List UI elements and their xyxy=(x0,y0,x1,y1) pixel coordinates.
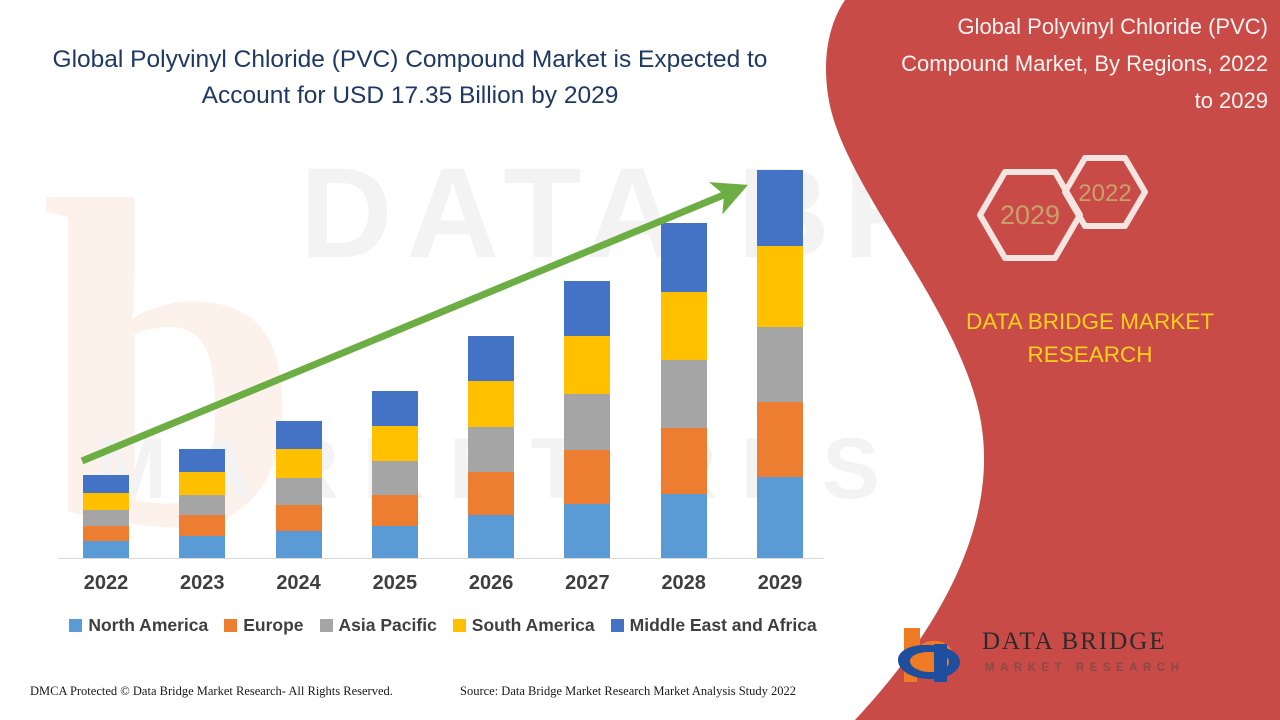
bar-segment xyxy=(468,515,514,558)
brand-line-2: RESEARCH xyxy=(1027,342,1152,367)
bar-segment xyxy=(468,427,514,472)
bar-segment xyxy=(276,421,322,449)
bar-segment xyxy=(661,292,707,361)
legend-swatch-icon xyxy=(224,619,237,632)
bar-column-2023 xyxy=(154,170,250,558)
bar-segment xyxy=(757,402,803,477)
x-axis-line xyxy=(58,558,824,559)
x-axis-label: 2023 xyxy=(154,572,250,595)
x-axis-label: 2022 xyxy=(58,572,154,595)
bar-segment xyxy=(661,223,707,292)
bar-segment xyxy=(372,526,418,558)
bar-segment xyxy=(661,428,707,494)
hexagon-badges: 2029 2022 xyxy=(970,140,1200,290)
stacked-bar xyxy=(83,475,129,558)
page-title: Global Polyvinyl Chloride (PVC) Compound… xyxy=(40,42,780,114)
x-axis-label: 2027 xyxy=(539,572,635,595)
legend-swatch-icon xyxy=(611,619,624,632)
bar-segment xyxy=(276,478,322,505)
logo-mark-icon xyxy=(890,620,978,692)
legend-label: Middle East and Africa xyxy=(630,615,817,636)
bar-segment xyxy=(83,541,129,558)
legend-swatch-icon xyxy=(69,619,82,632)
logo-wordmark: DATA BRIDGE xyxy=(982,628,1167,656)
copyright-notice: DMCA Protected © Data Bridge Market Rese… xyxy=(30,684,393,699)
legend-item-south-america[interactable]: South America xyxy=(453,615,595,636)
bar-segment xyxy=(179,449,225,472)
bar-column-2025 xyxy=(347,170,443,558)
bar-segment xyxy=(468,381,514,427)
bar-segment xyxy=(372,426,418,461)
x-axis-label: 2024 xyxy=(251,572,347,595)
hexagon-2029-label: 2029 xyxy=(1000,200,1060,230)
bar-segment xyxy=(564,394,610,450)
bar-segment xyxy=(564,281,610,336)
legend-item-asia-pacific[interactable]: Asia Pacific xyxy=(320,615,437,636)
bar-segment xyxy=(757,477,803,558)
hexagon-2022-label: 2022 xyxy=(1078,180,1131,207)
bar-segment xyxy=(83,493,129,511)
bar-segment xyxy=(661,494,707,558)
legend-item-middle-east-and-africa[interactable]: Middle East and Africa xyxy=(611,615,817,636)
bar-column-2027 xyxy=(539,170,635,558)
legend-swatch-icon xyxy=(320,619,333,632)
bar-segment xyxy=(564,336,610,393)
bar-segment xyxy=(564,504,610,558)
legend-label: Europe xyxy=(243,615,303,636)
stacked-bar xyxy=(661,223,707,558)
legend-label: Asia Pacific xyxy=(339,615,437,636)
stacked-bar xyxy=(468,336,514,558)
bar-segment xyxy=(179,536,225,558)
bar-segment xyxy=(179,472,225,495)
bar-segment xyxy=(179,495,225,516)
bar-column-2028 xyxy=(636,170,732,558)
stacked-bar xyxy=(757,170,803,558)
stacked-bar xyxy=(276,421,322,558)
bar-segment xyxy=(179,515,225,536)
bar-segment xyxy=(276,449,322,478)
bar-segment xyxy=(83,475,129,493)
stacked-bar xyxy=(564,281,610,558)
bar-segment xyxy=(276,505,322,531)
legend-label: North America xyxy=(88,615,208,636)
logo-tagline: MARKET RESEARCH xyxy=(985,662,1184,674)
bar-segment xyxy=(757,327,803,402)
panel-title: Global Polyvinyl Chloride (PVC) Compound… xyxy=(898,8,1268,119)
bar-segment xyxy=(276,531,322,558)
stacked-bar xyxy=(179,449,225,558)
bar-column-2024 xyxy=(251,170,347,558)
stacked-bar-chart xyxy=(58,170,828,558)
x-axis-label: 2026 xyxy=(443,572,539,595)
bar-column-2022 xyxy=(58,170,154,558)
legend-swatch-icon xyxy=(453,619,466,632)
legend-item-europe[interactable]: Europe xyxy=(224,615,303,636)
source-notice: Source: Data Bridge Market Research Mark… xyxy=(460,684,796,699)
bar-segment xyxy=(83,510,129,526)
x-axis-label: 2028 xyxy=(636,572,732,595)
brand-line-1: DATA BRIDGE MARKET xyxy=(966,309,1214,334)
bar-segment xyxy=(372,461,418,494)
bar-segment xyxy=(661,360,707,428)
bar-segment xyxy=(468,472,514,516)
bar-segment xyxy=(372,495,418,526)
company-logo: DATA BRIDGE MARKET RESEARCH xyxy=(890,620,1200,700)
chart-legend: North AmericaEuropeAsia PacificSouth Ame… xyxy=(58,615,828,636)
bar-segment xyxy=(757,246,803,327)
bar-segment xyxy=(468,336,514,381)
legend-item-north-america[interactable]: North America xyxy=(69,615,208,636)
legend-label: South America xyxy=(472,615,595,636)
bar-segment xyxy=(757,170,803,246)
x-axis-labels: 20222023202420252026202720282029 xyxy=(58,572,828,595)
x-axis-label: 2025 xyxy=(347,572,443,595)
bar-column-2026 xyxy=(443,170,539,558)
bar-segment xyxy=(83,526,129,542)
stacked-bar xyxy=(372,391,418,558)
bar-segment xyxy=(564,450,610,504)
bar-segment xyxy=(372,391,418,426)
infographic-canvas: b DATA BRID MARKET RES Global Polyvinyl … xyxy=(0,0,1280,720)
brand-name: DATA BRIDGE MARKET RESEARCH xyxy=(920,305,1260,371)
